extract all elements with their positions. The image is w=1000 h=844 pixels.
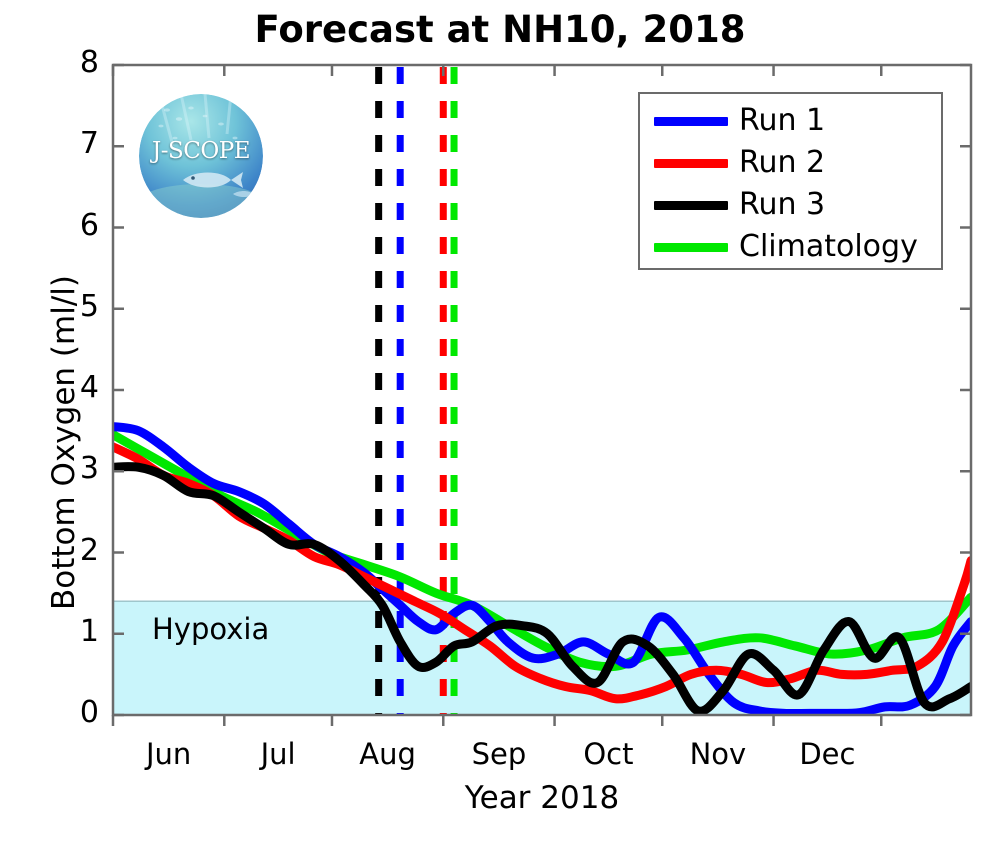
chart-root: Forecast at NH10, 2018 Bottom Oxygen (ml… <box>0 0 1000 844</box>
y-tick-label: 0 <box>39 695 99 730</box>
y-tick-label: 3 <box>39 451 99 486</box>
x-tick-label: Jul <box>218 737 338 771</box>
j-scope-logo: J-SCOPE <box>139 94 263 218</box>
hypoxia-label: Hypoxia <box>152 612 269 646</box>
x-tick-label: Aug <box>328 737 448 771</box>
x-tick-label: Sep <box>439 737 559 771</box>
legend-swatch-icon <box>654 159 728 168</box>
x-tick-label: Nov <box>658 737 778 771</box>
x-tick-label: Oct <box>548 737 668 771</box>
y-tick-label: 1 <box>39 614 99 649</box>
legend-swatch-icon <box>654 201 728 210</box>
legend-label: Run 3 <box>739 190 825 220</box>
legend-item-climatology[interactable]: Climatology <box>640 226 941 268</box>
legend-item-run-1[interactable]: Run 1 <box>640 100 941 142</box>
legend: Run 1Run 2Run 3Climatology <box>638 92 943 270</box>
legend-item-run-2[interactable]: Run 2 <box>640 142 941 184</box>
y-tick-label: 8 <box>39 45 99 80</box>
logo-text: J-SCOPE <box>139 138 263 164</box>
y-tick-label: 6 <box>39 208 99 243</box>
legend-item-run-3[interactable]: Run 3 <box>640 184 941 226</box>
y-tick-label: 5 <box>39 289 99 324</box>
x-axis-label: Year 2018 <box>113 780 971 816</box>
legend-swatch-icon <box>654 117 728 126</box>
legend-label: Run 1 <box>739 106 825 136</box>
y-tick-label: 7 <box>39 126 99 161</box>
y-tick-label: 4 <box>39 370 99 405</box>
legend-label: Climatology <box>739 232 918 262</box>
x-tick-label: Dec <box>767 737 887 771</box>
x-tick-label: Jun <box>109 737 229 771</box>
legend-swatch-icon <box>654 243 728 252</box>
legend-label: Run 2 <box>739 148 825 178</box>
y-tick-label: 2 <box>39 533 99 568</box>
